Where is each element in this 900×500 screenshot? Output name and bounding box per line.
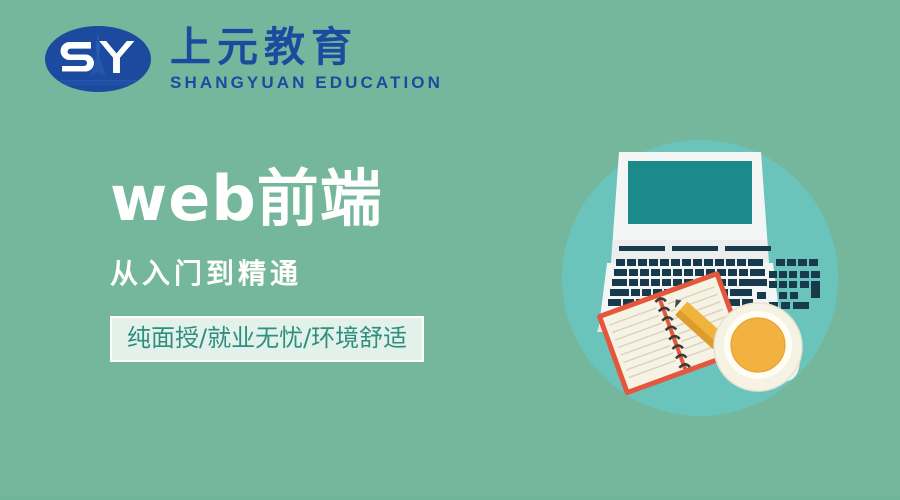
course-promo-banner: 上元教育 SHANGYUAN EDUCATION web前端 从入门到精通 纯面…: [0, 0, 900, 500]
brand-logo: 上元教育 SHANGYUAN EDUCATION: [44, 24, 443, 93]
page-title: web前端: [110, 168, 490, 230]
desk-workspace-illustration: [562, 140, 838, 416]
brand-name-cn: 上元教育: [170, 26, 358, 69]
bottom-edge-strip: [0, 496, 900, 500]
promo-copy: web前端 从入门到精通 纯面授/就业无忧/环境舒适: [110, 168, 490, 362]
page-subtitle: 从入门到精通: [110, 252, 490, 292]
brand-wordmark: 上元教育 SHANGYUAN EDUCATION: [170, 24, 443, 93]
sy-monogram-icon: [44, 25, 152, 93]
brand-name-en: SHANGYUAN EDUCATION: [170, 73, 443, 93]
feature-badge: 纯面授/就业无忧/环境舒适: [110, 316, 424, 362]
